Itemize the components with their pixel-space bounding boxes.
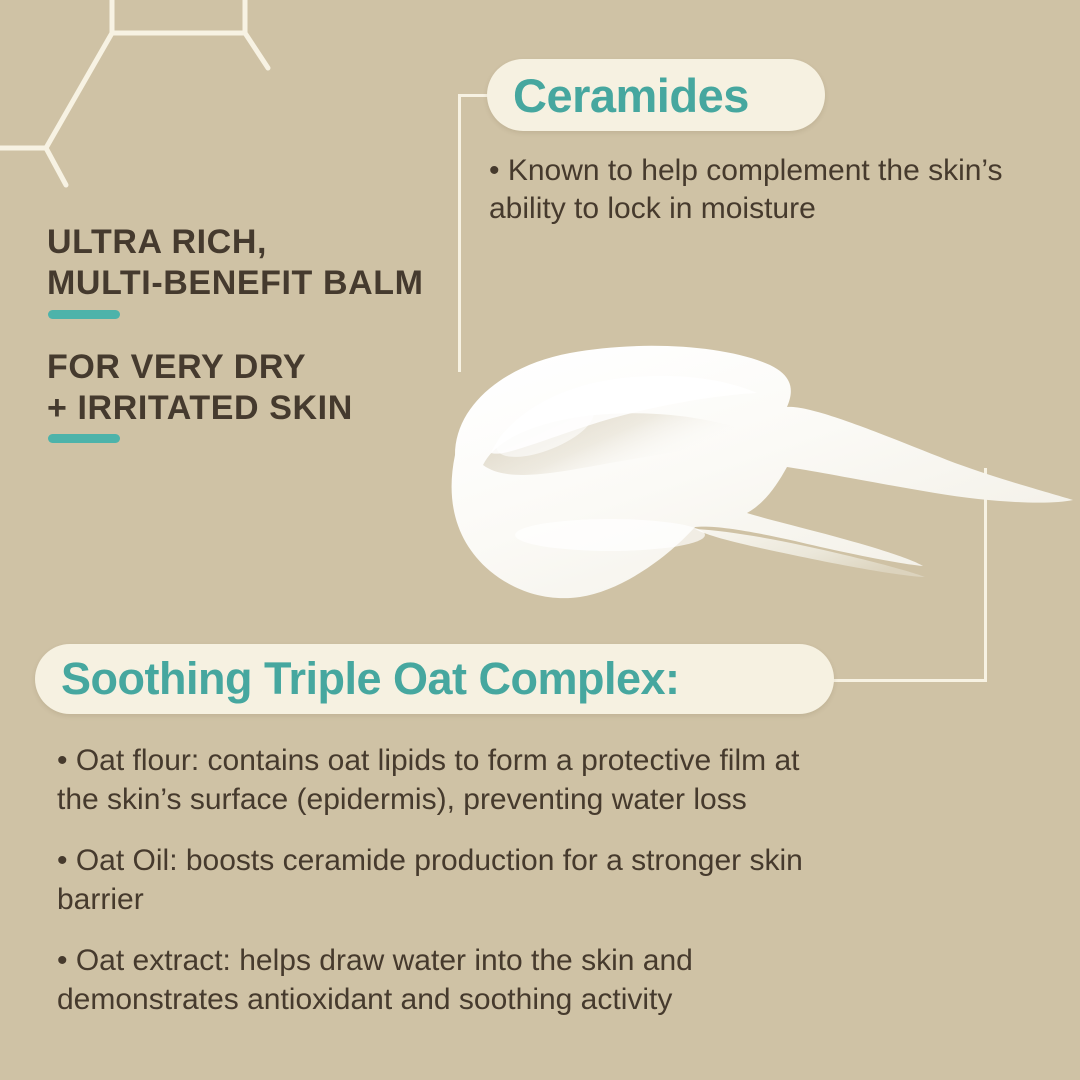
balm-smear-swatch-image [395, 335, 1080, 625]
headline-ultra-rich: ULTRA RICH, MULTI-BENEFIT BALM [47, 222, 447, 305]
oat-complex-bullet-list: • Oat flour: contains oat lipids to form… [57, 741, 847, 1041]
list-item: • Oat flour: contains oat lipids to form… [57, 741, 847, 819]
list-item: • Oat extract: helps draw water into the… [57, 941, 847, 1019]
connector-line-oat-horizontal [812, 679, 987, 682]
pill-oat-complex-title: Soothing Triple Oat Complex: [35, 644, 834, 714]
hexagon-pattern-icon [0, 0, 300, 200]
accent-bar-headline-1 [48, 310, 120, 319]
accent-bar-headline-2 [48, 434, 120, 443]
pill-ceramides-title: Ceramides [487, 59, 825, 131]
list-item: • Oat Oil: boosts ceramide production fo… [57, 841, 847, 919]
infographic-canvas: ULTRA RICH, MULTI-BENEFIT BALM FOR VERY … [0, 0, 1080, 1080]
ceramides-bullet-text: • Known to help complement the skin’s ab… [489, 152, 1019, 229]
oat-complex-title-text: Soothing Triple Oat Complex: [61, 653, 680, 705]
connector-line-oat-vertical [984, 468, 987, 682]
ceramides-title-text: Ceramides [513, 68, 749, 123]
headline-for-very-dry: FOR VERY DRY + IRRITATED SKIN [47, 347, 447, 430]
connector-line-ceramides-vertical [458, 94, 461, 372]
